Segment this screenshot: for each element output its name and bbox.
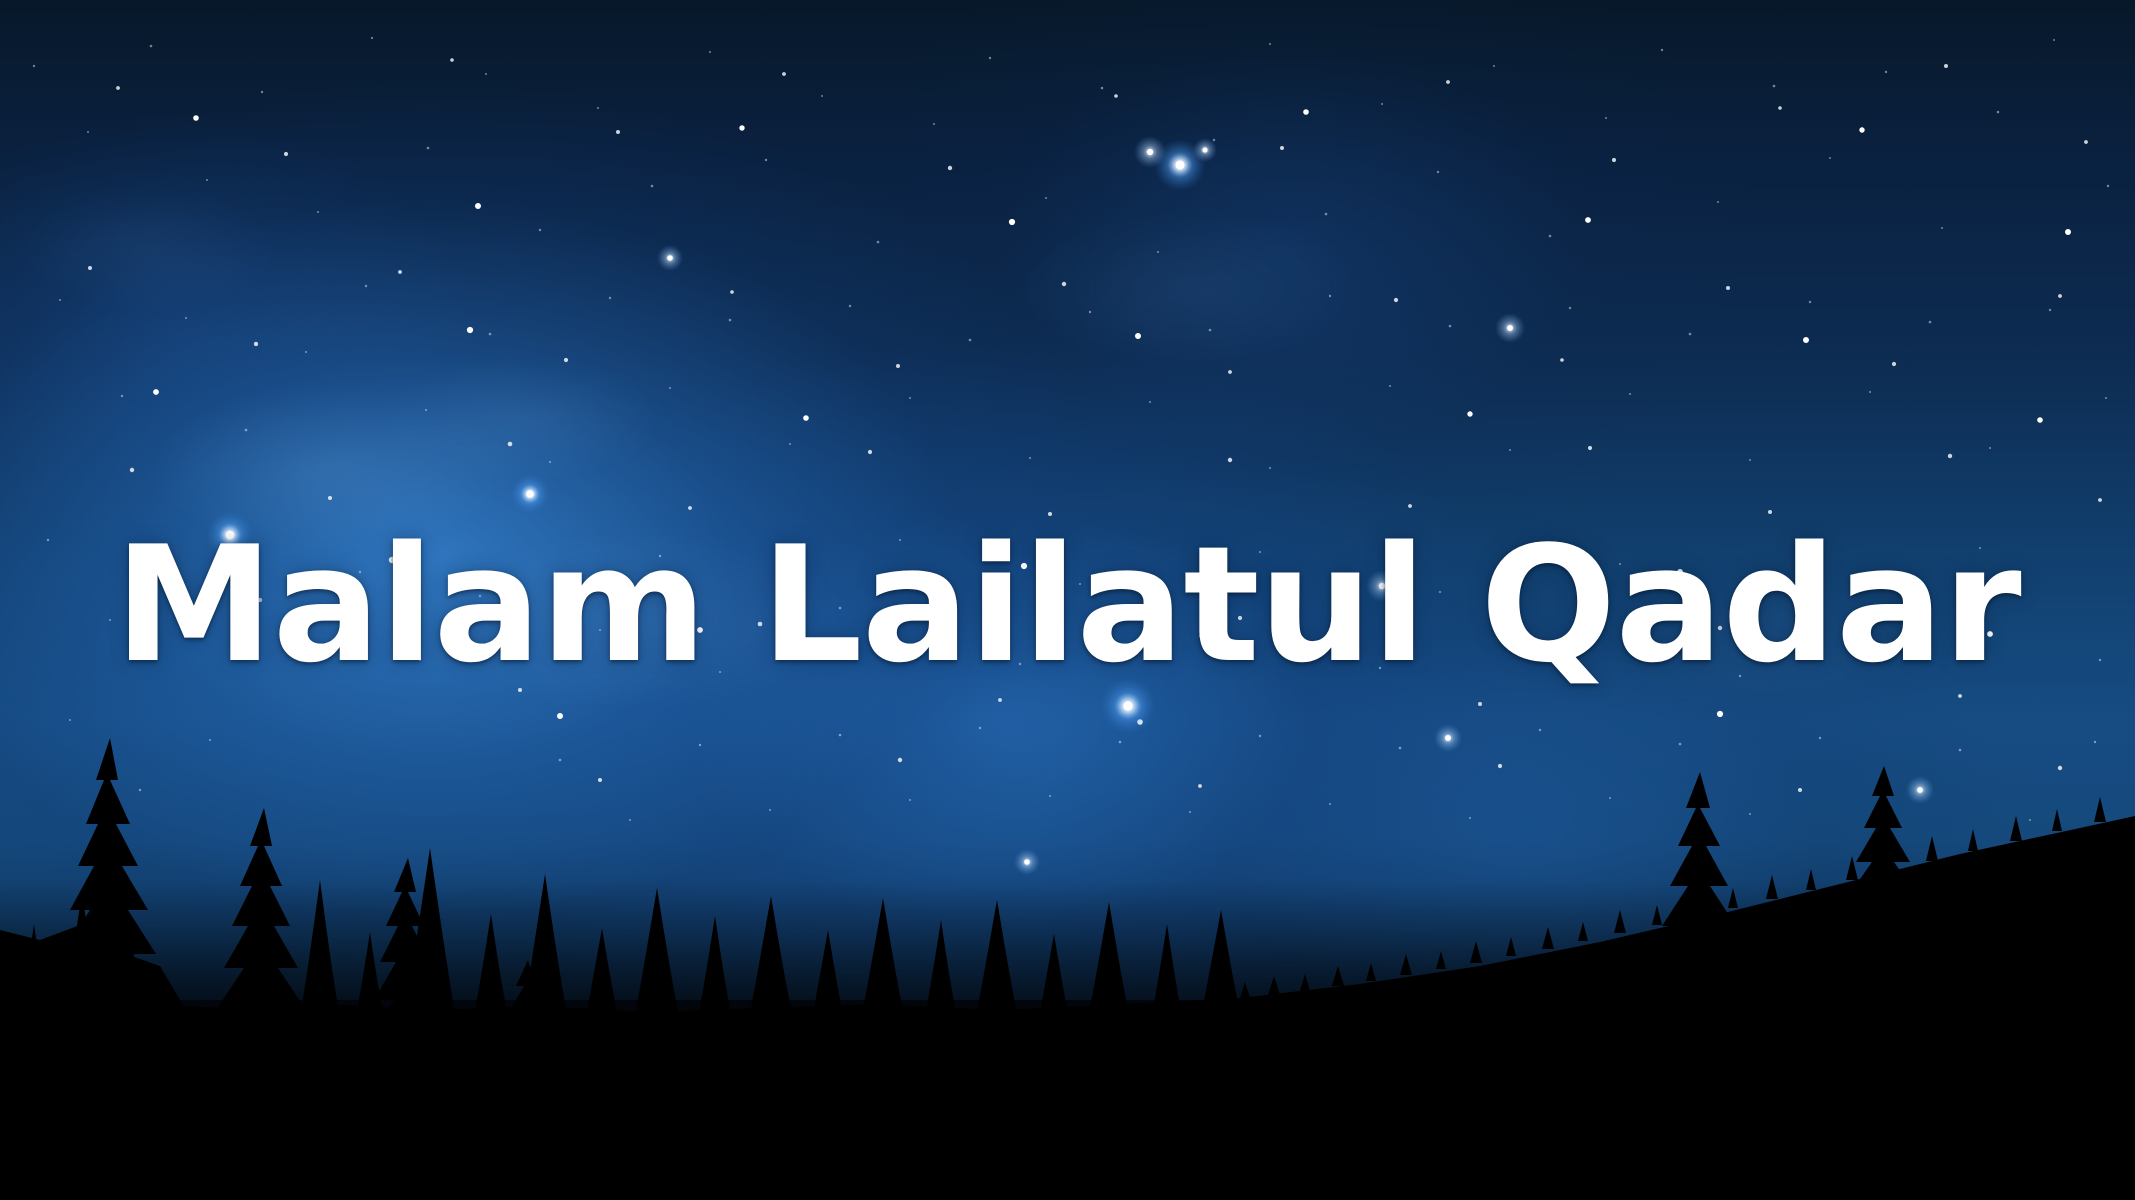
ground-base	[0, 1140, 2135, 1200]
forest-silhouette	[0, 580, 2135, 1200]
mid-treeline	[20, 848, 1244, 1032]
poster-canvas: Malam Lailatul Qadar	[0, 0, 2135, 1200]
